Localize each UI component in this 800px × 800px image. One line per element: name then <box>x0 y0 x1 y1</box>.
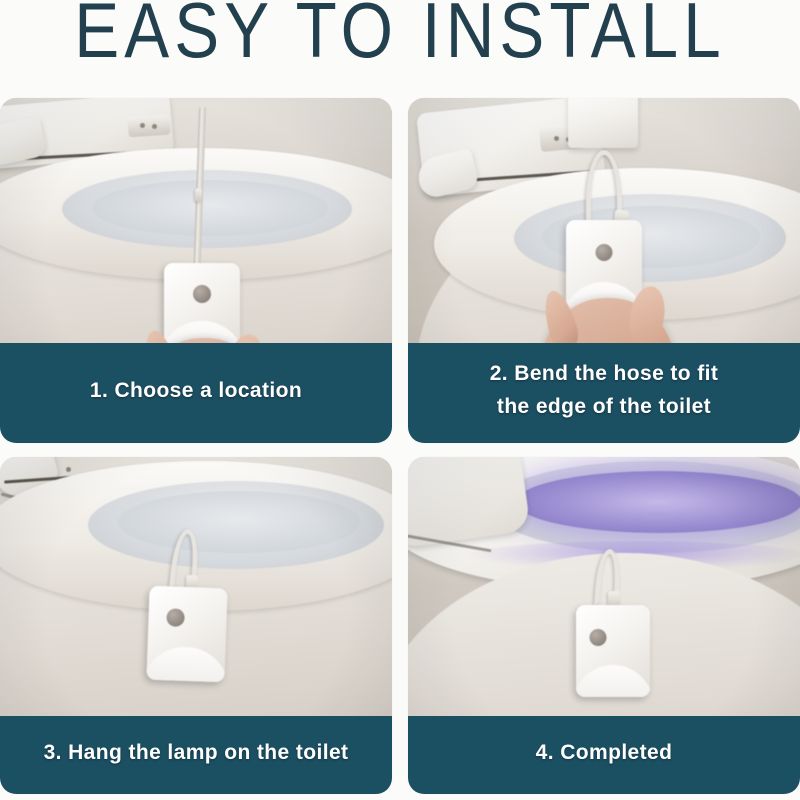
toilet-water-glow <box>516 471 800 533</box>
steps-grid: 1. Choose a location <box>0 98 800 794</box>
toilet-light-device <box>146 586 227 683</box>
motion-sensor-icon <box>596 244 613 261</box>
caption-line: 2. Bend the hose to fit <box>490 358 719 391</box>
motion-sensor-icon <box>193 285 211 303</box>
light-diffuser <box>146 645 227 682</box>
step-3-caption: 3. Hang the lamp on the toilet <box>0 716 392 794</box>
toilet-hinge <box>127 115 170 138</box>
step-panel-2: 2. Bend the hose to fit the edge of the … <box>408 98 800 443</box>
motion-sensor-icon <box>166 608 185 627</box>
step-4-caption: 4. Completed <box>408 716 800 794</box>
toilet-tank-edge <box>568 98 638 148</box>
hinge-screw-icon <box>554 136 559 141</box>
step-panel-1: 1. Choose a location <box>0 98 392 443</box>
toilet-water <box>118 491 360 553</box>
step-2-caption: 2. Bend the hose to fit the edge of the … <box>408 343 800 443</box>
hinge-screw-icon <box>140 123 145 128</box>
hose-clip <box>195 188 202 202</box>
motion-sensor-icon <box>590 629 607 646</box>
step-1-caption: 1. Choose a location <box>0 343 392 443</box>
caption-line: the edge of the toilet <box>497 391 711 424</box>
caption-line: 1. Choose a location <box>90 375 302 408</box>
toilet-water <box>92 180 328 236</box>
toilet-light-device <box>576 605 650 697</box>
light-diffuser <box>576 665 650 697</box>
hinge-screw-icon <box>66 467 71 472</box>
step-panel-3: 3. Hang the lamp on the toilet <box>0 457 392 794</box>
caption-line: 3. Hang the lamp on the toilet <box>44 737 349 770</box>
hinge-screw-icon <box>152 124 157 129</box>
step-panel-4: 4. Completed <box>408 457 800 794</box>
caption-line: 4. Completed <box>536 737 673 770</box>
page-title: EASY TO INSTALL <box>0 0 800 70</box>
